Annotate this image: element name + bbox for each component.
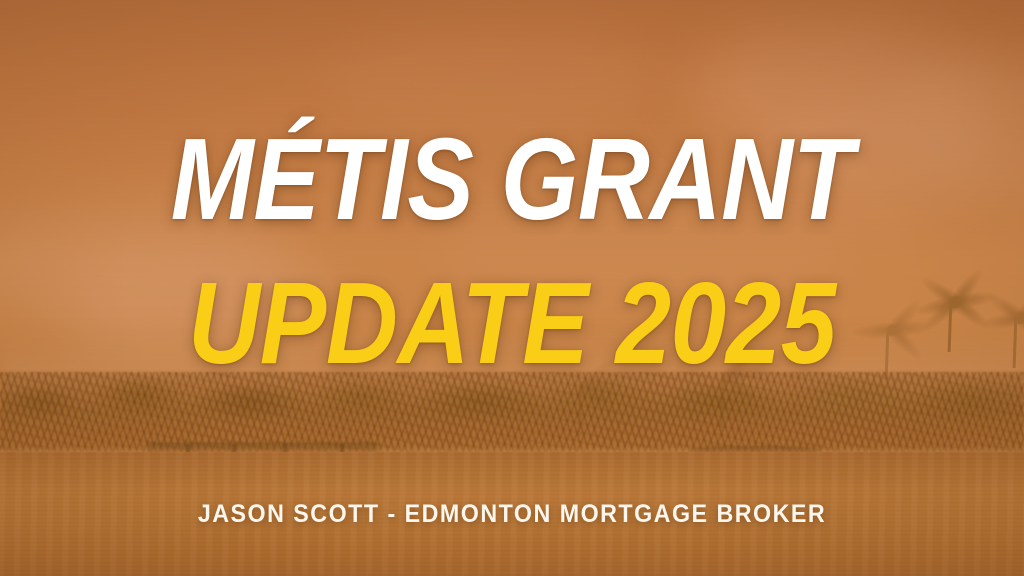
subtitle-presenter-credit: JASON SCOTT - EDMONTON MORTGAGE BROKER bbox=[36, 500, 988, 529]
title-overlay: MÉTIS GRANT UPDATE 2025 JASON SCOTT - ED… bbox=[0, 0, 1024, 576]
headline-line-2: UPDATE 2025 bbox=[72, 270, 953, 377]
video-thumbnail: MÉTIS GRANT UPDATE 2025 JASON SCOTT - ED… bbox=[0, 0, 1024, 576]
headline-line-1: MÉTIS GRANT bbox=[72, 126, 953, 233]
